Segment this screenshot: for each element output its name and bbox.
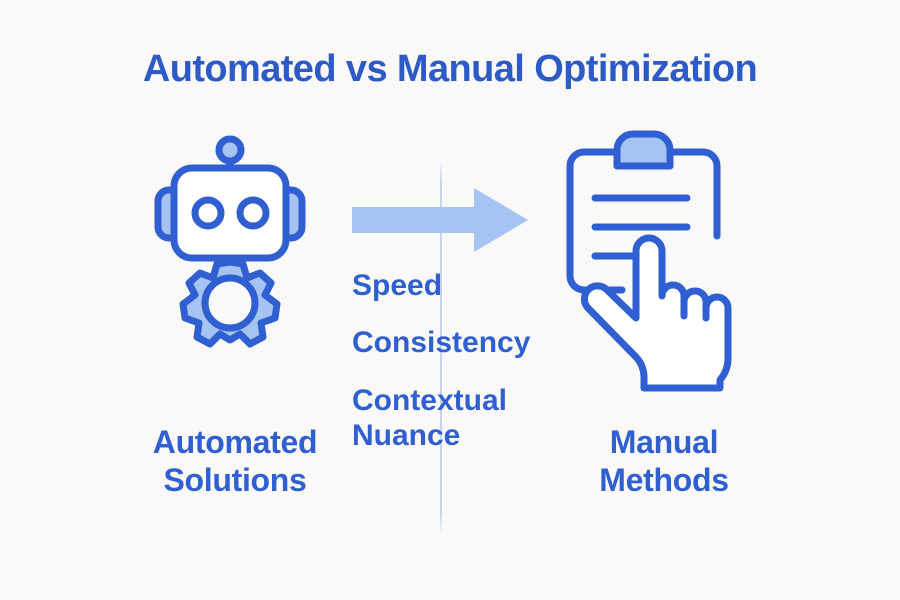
right-arrow-icon (352, 186, 528, 254)
clipboard-hand-svg (560, 126, 755, 396)
manual-methods-label: Manual Methods (553, 424, 775, 500)
automated-icon-group (150, 128, 310, 393)
clipboard-board-left (570, 152, 622, 290)
gear-center-hole (205, 278, 255, 328)
feature-item: Contextual Nuance (352, 383, 567, 454)
feature-item: Speed (352, 268, 567, 303)
automated-solutions-label: Automated Solutions (110, 424, 360, 500)
robot-eye-left (195, 200, 221, 226)
feature-list: Speed Consistency Contextual Nuance (352, 268, 567, 454)
arrow-container (352, 186, 528, 254)
infographic-canvas: Automated vs Manual Optimization (0, 0, 900, 600)
manual-icon-group (560, 126, 755, 396)
clipboard-board-right (670, 152, 717, 236)
page-title: Automated vs Manual Optimization (0, 48, 900, 91)
gear-icon (183, 262, 277, 344)
feature-item: Consistency (352, 325, 567, 360)
arrow-shape (352, 188, 528, 252)
robot-icon (158, 139, 302, 258)
robot-and-gear-svg (150, 128, 310, 393)
robot-antenna-bulb (219, 139, 241, 161)
robot-eye-right (240, 200, 266, 226)
clipboard-clip (617, 134, 670, 166)
